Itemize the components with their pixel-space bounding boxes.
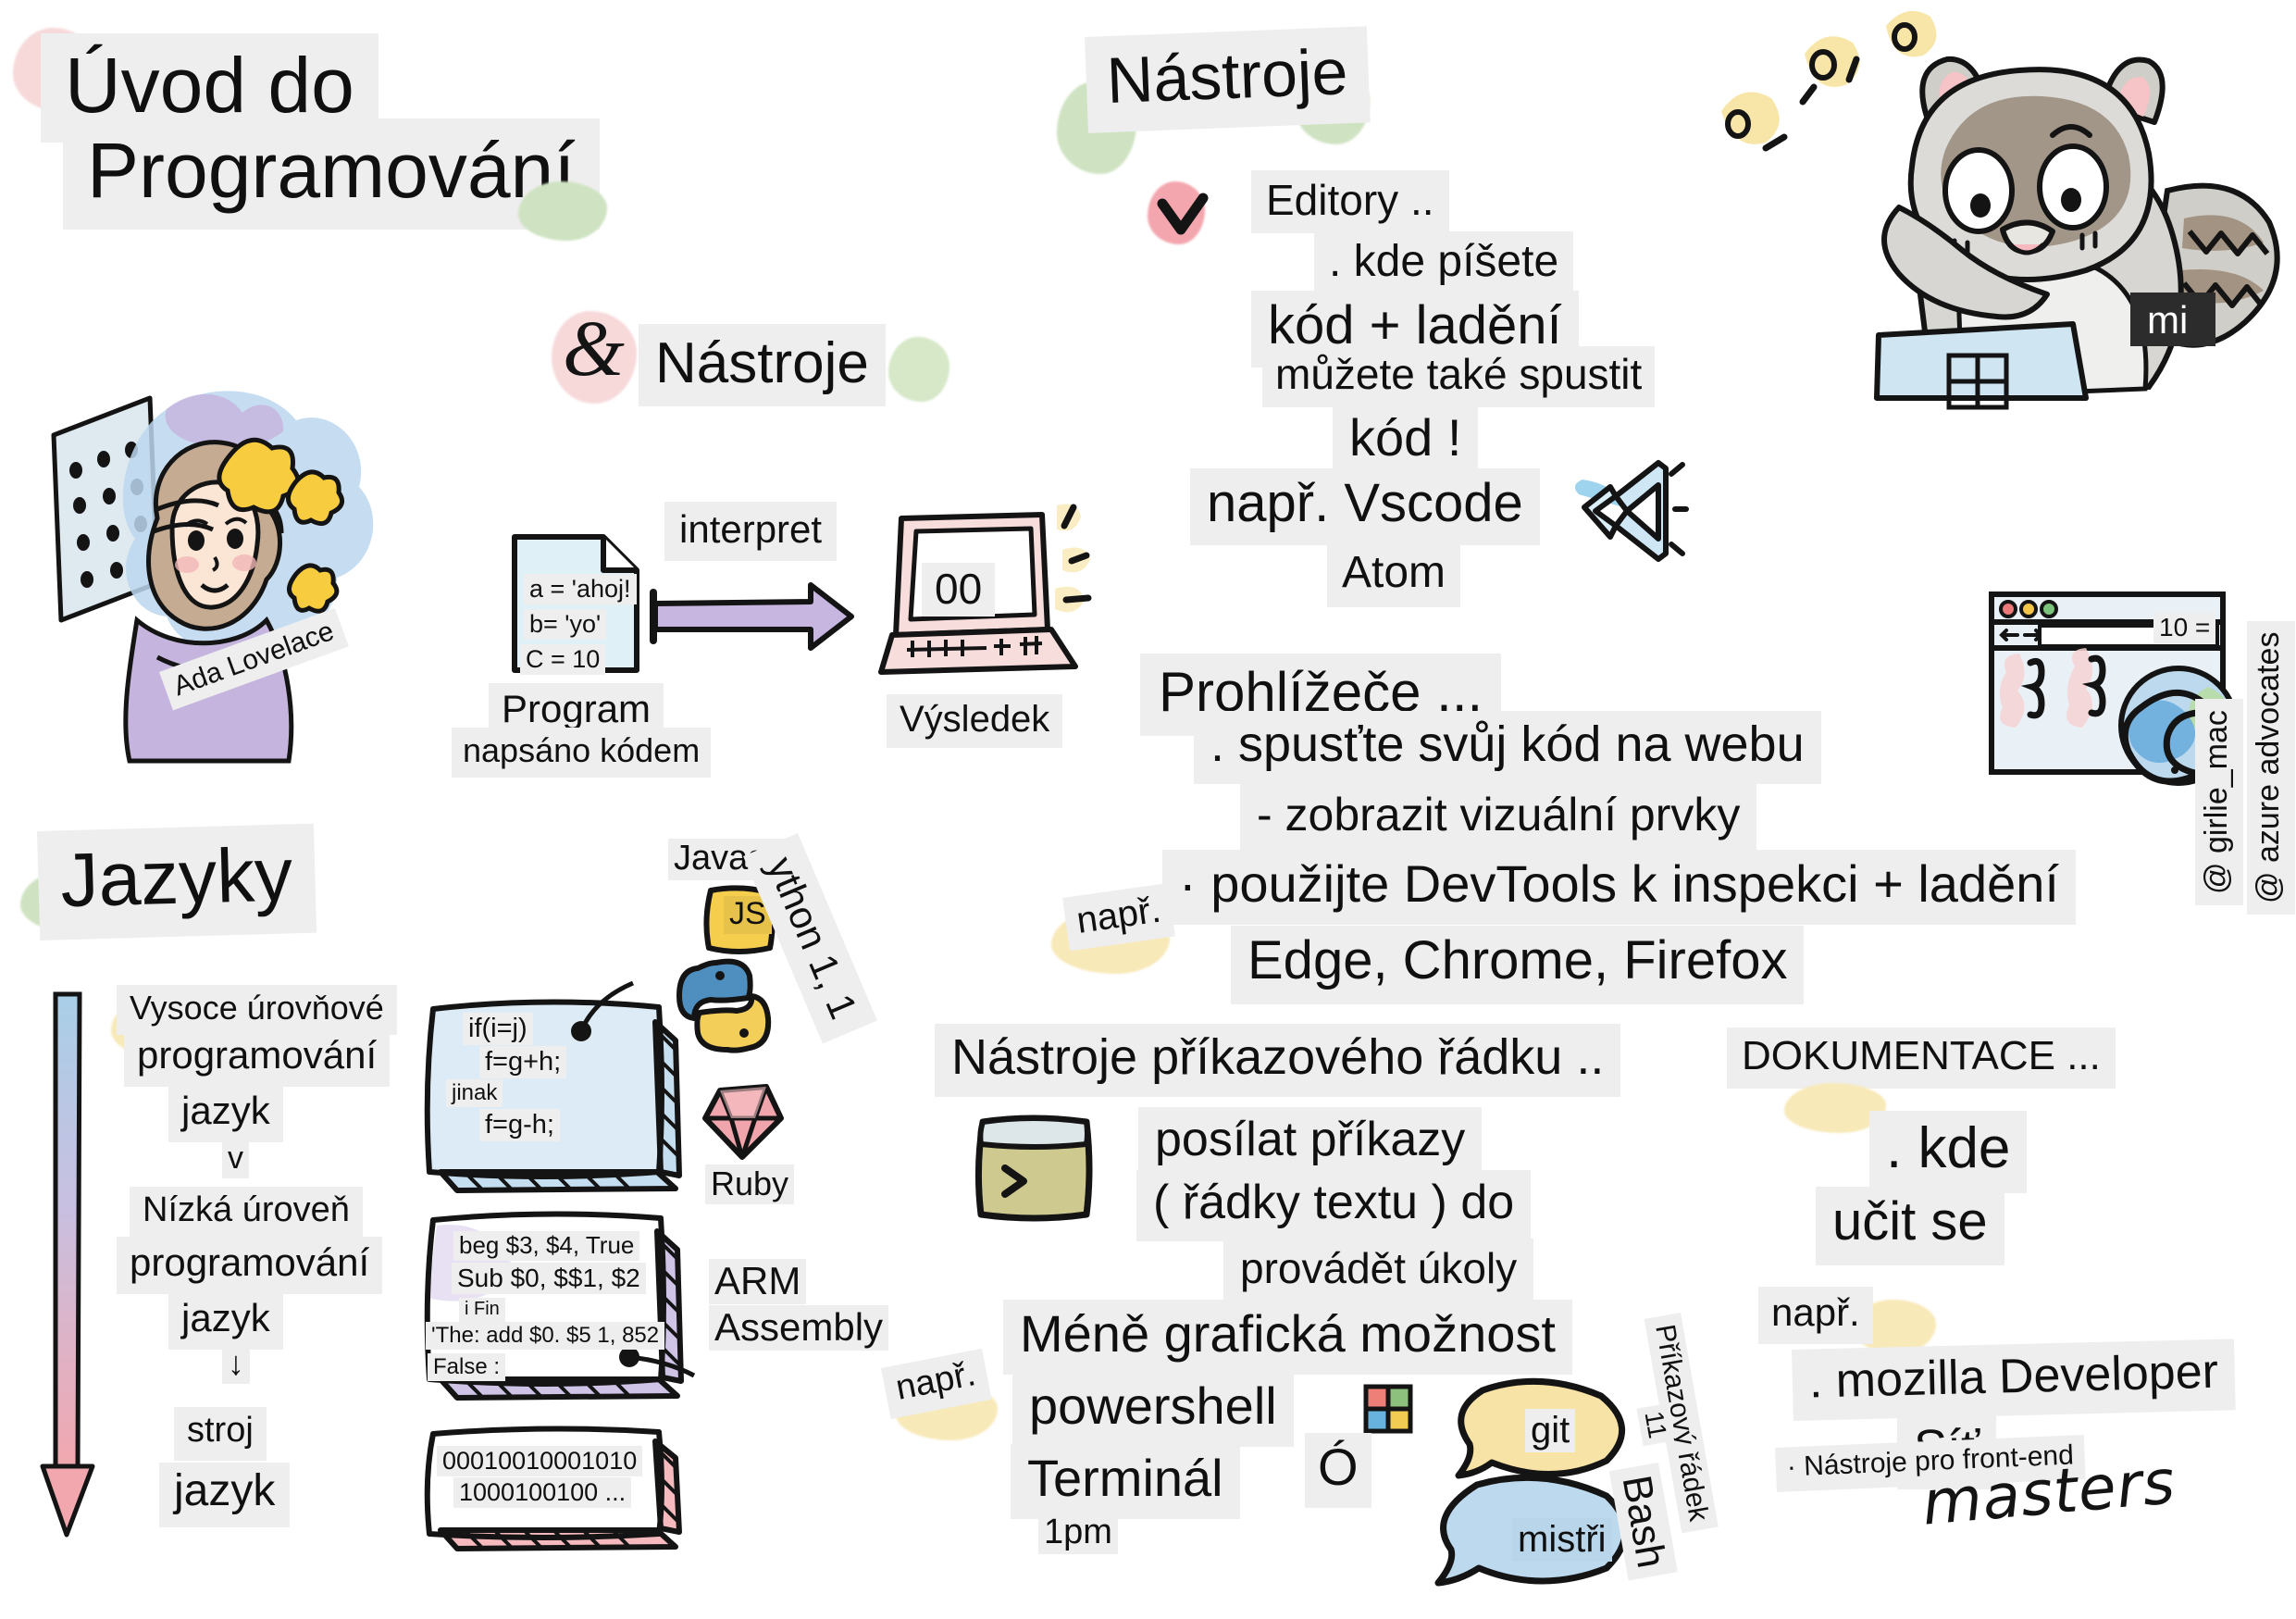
- high-level-line-1: Vysoce úrovňové: [117, 985, 397, 1035]
- machine-line-2: jazyk: [159, 1463, 290, 1527]
- high-level-code-line-2: f=g+h;: [479, 1046, 566, 1078]
- cli-line-2: ( řádky textu ) do: [1136, 1170, 1531, 1241]
- browsers-line-2: - zobrazit vizuální prvky: [1240, 783, 1756, 853]
- cli-line-1: posílat příkazy: [1138, 1107, 1482, 1178]
- program-code-line-1: a = 'ahoj!: [524, 574, 637, 604]
- browsers-line-3: · použijte DevTools k inspekci + ladění: [1162, 850, 2076, 925]
- cli-terminal-label: Terminál: [1011, 1444, 1240, 1519]
- docs-line-kde: . kde: [1869, 1111, 2027, 1193]
- python-logo-icon: [683, 953, 785, 1055]
- browsers-examples: Edge, Chrome, Firefox: [1231, 926, 1804, 1004]
- cli-rotated-label-11: 11: [1636, 1403, 1674, 1446]
- credit-line-1: @ azure advocates: [2247, 621, 2295, 915]
- tools-heading: Nástroje: [1085, 26, 1370, 132]
- low-level-line-1: Nízká úroveň: [130, 1187, 363, 1240]
- assembly-code-line-5: False :: [428, 1353, 505, 1381]
- arrow-down-2: ↓: [222, 1344, 250, 1384]
- level-gradient-arrow-icon: [37, 990, 102, 1546]
- tools-line-1: . kde píšete: [1314, 231, 1573, 296]
- sketchnote-canvas: Úvod do Programování & Nástroje: [0, 0, 2296, 1619]
- tools-line-4: kód !: [1333, 404, 1478, 479]
- docs-eg-label: např.: [1758, 1287, 1873, 1344]
- tools-line-5: např. Vscode: [1190, 468, 1540, 545]
- high-level-code-line-3: jinak: [446, 1079, 503, 1107]
- interpret-arrow-icon: [648, 576, 861, 659]
- docs-heading: DOKUMENTACE ...: [1727, 1027, 2116, 1089]
- cli-terminal-glyph: Ó: [1305, 1433, 1371, 1508]
- cli-heading: Nástroje příkazového řádku ..: [935, 1024, 1620, 1097]
- machine-line-1: stroj: [174, 1407, 267, 1461]
- cli-line-3: provádět úkoly: [1223, 1239, 1533, 1303]
- subtitle-green-blob: [888, 337, 949, 402]
- interpret-label: interpret: [664, 502, 837, 561]
- ruby-logo-icon: [700, 1081, 787, 1163]
- docs-line-ucit: učit se: [1816, 1187, 2004, 1265]
- high-level-line-2: programování: [124, 1029, 390, 1087]
- cli-powershell-label: powershell: [1012, 1372, 1294, 1447]
- terminal-window-icon: [970, 1109, 1099, 1229]
- docs-mozilla-line: . mozilla Developer: [1792, 1339, 2236, 1420]
- svg-text:mi: mi: [2147, 298, 2188, 342]
- arm-label-line-1: ARM: [709, 1259, 806, 1304]
- high-level-line-3: jazyk: [168, 1085, 283, 1142]
- high-level-code-line-1: if(i=j): [463, 1013, 533, 1045]
- assembly-code-line-4: 'The: add $0. $5 1, 852: [426, 1322, 664, 1350]
- program-code-line-3: C = 10: [520, 644, 605, 675]
- tools-line-6: Atom: [1327, 542, 1460, 607]
- assembly-code-line-1: beg $3, $4, True: [453, 1231, 639, 1261]
- git-bubble-label: git: [1525, 1409, 1575, 1452]
- credit-line-2: @ girlie_mac: [2195, 699, 2243, 905]
- check-mark-icon: [1155, 191, 1210, 243]
- subtitle-nastroje: Nástroje: [639, 324, 886, 406]
- program-label-line-2: napsáno kódem: [452, 728, 711, 778]
- low-level-line-2: programování: [117, 1237, 382, 1294]
- windows-logo-icon: [1360, 1381, 1420, 1440]
- arrow-down-1: v: [222, 1140, 249, 1178]
- languages-heading: Jazyky: [37, 824, 316, 940]
- tools-line-3: můžete také spustit: [1262, 346, 1655, 407]
- masters-bubble-label: mistři: [1512, 1518, 1612, 1562]
- low-level-line-3: jazyk: [168, 1292, 283, 1350]
- assembly-code-line-3: i Fin: [459, 1298, 505, 1322]
- raccoon-illustration: mi: [1684, 9, 2295, 398]
- browsers-line-1: . spusťte svůj kód na webu: [1194, 711, 1821, 784]
- ampersand-symbol: &: [563, 302, 625, 394]
- binary-code-line-2: 1000100100 ...: [453, 1477, 631, 1508]
- program-code-line-2: b= 'yo': [524, 609, 606, 640]
- binary-code-line-1: 00010010001010: [437, 1446, 642, 1476]
- high-level-code-line-4: f=g-h;: [479, 1109, 560, 1141]
- cli-time-label: 1pm: [1038, 1513, 1118, 1554]
- assembly-code-line-2: Sub $0, $$1, $2: [452, 1263, 646, 1294]
- result-label: Výsledek: [887, 694, 1062, 748]
- title-green-blob: [518, 181, 607, 241]
- vscode-logo-icon: [1564, 454, 1684, 565]
- browser-window-url-text: 10 =: [2153, 612, 2215, 643]
- tools-editors-heading: Editory ..: [1251, 170, 1449, 233]
- ada-lovelace-illustration: [19, 342, 416, 768]
- result-screen-value: 00: [922, 563, 995, 616]
- cli-less-graphical: Méně grafická možnost: [1003, 1300, 1572, 1375]
- ruby-label: Ruby: [705, 1164, 794, 1204]
- arm-label-line-2: Assembly: [709, 1305, 888, 1351]
